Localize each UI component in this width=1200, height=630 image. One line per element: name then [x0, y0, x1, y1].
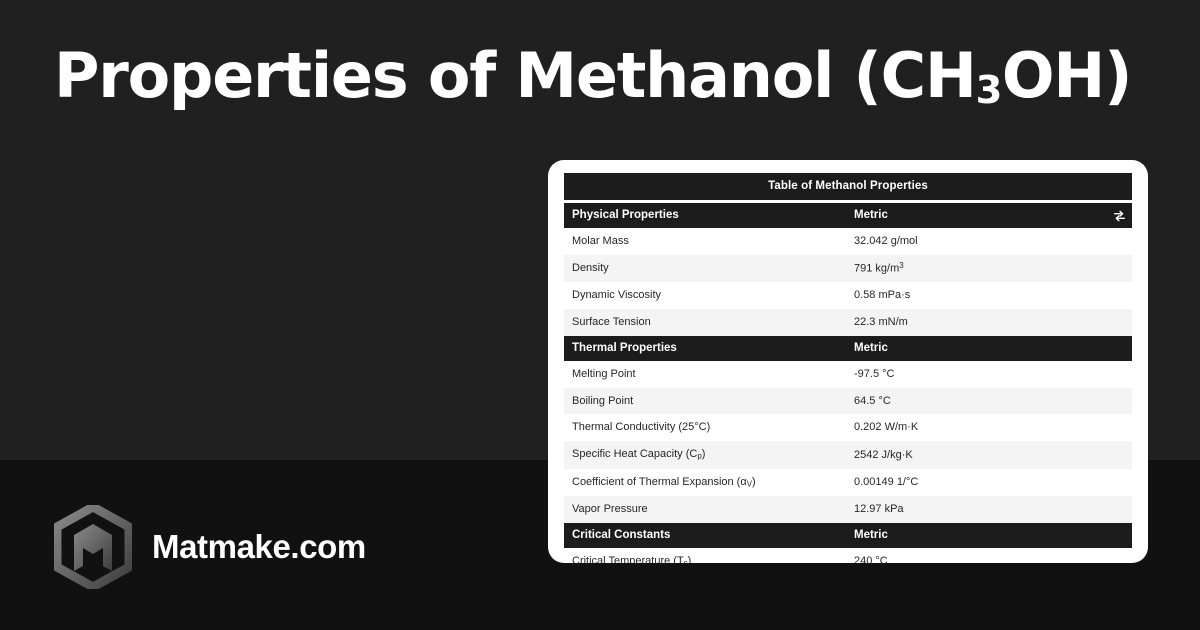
table-row: Surface Tension22.3 mN/m [564, 309, 1132, 336]
section-header-metric: Metric [847, 523, 1132, 548]
page-title-main: Properties of Methanol (CH [54, 39, 976, 112]
property-value: 0.00149 1/°C [847, 469, 1132, 496]
property-label: Density [564, 255, 847, 282]
property-label: Surface Tension [564, 309, 847, 336]
property-label: Melting Point [564, 361, 847, 388]
section-header-property: Critical Constants [564, 523, 847, 548]
table-row: Thermal Conductivity (25°C)0.202 W/m·K [564, 414, 1132, 441]
table-row: Melting Point-97.5 °C [564, 361, 1132, 388]
property-label: Vapor Pressure [564, 496, 847, 523]
property-value: 22.3 mN/m [847, 309, 1132, 336]
page-title-subscript: 3 [976, 68, 1002, 113]
table-caption-row: Table of Methanol Properties [564, 173, 1132, 200]
property-value: 0.202 W/m·K [847, 414, 1132, 441]
section-header-row: Physical PropertiesMetric [564, 203, 1132, 228]
table-row: Specific Heat Capacity (Cp)2542 J/kg·K [564, 441, 1132, 468]
section-header-metric: Metric [847, 336, 1132, 361]
section-header-property: Thermal Properties [564, 336, 847, 361]
table-row: Coefficient of Thermal Expansion (αV)0.0… [564, 469, 1132, 496]
properties-table-card: Table of Methanol PropertiesPhysical Pro… [548, 160, 1148, 563]
property-value: 12.97 kPa [847, 496, 1132, 523]
section-header-metric[interactable]: Metric [847, 203, 1132, 228]
properties-table: Table of Methanol PropertiesPhysical Pro… [564, 173, 1132, 563]
section-header-row: Thermal PropertiesMetric [564, 336, 1132, 361]
brand-footer: Matmake.com [54, 505, 366, 589]
brand-name: Matmake.com [152, 528, 366, 566]
property-label: Specific Heat Capacity (Cp) [564, 441, 847, 468]
property-label: Critical Temperature (Tc) [564, 548, 847, 563]
property-value: 240 °C [847, 548, 1132, 563]
property-label: Dynamic Viscosity [564, 282, 847, 309]
page-title-tail: OH) [1002, 39, 1131, 112]
table-row: Boiling Point64.5 °C [564, 388, 1132, 415]
section-header-row: Critical ConstantsMetric [564, 523, 1132, 548]
table-row: Density791 kg/m3 [564, 255, 1132, 282]
table-row: Vapor Pressure12.97 kPa [564, 496, 1132, 523]
property-value: -97.5 °C [847, 361, 1132, 388]
page-title: Properties of Methanol (CH3OH) [54, 41, 1154, 110]
matmake-cube-logo-icon [54, 505, 132, 589]
property-value: 0.58 mPa·s [847, 282, 1132, 309]
property-label: Coefficient of Thermal Expansion (αV) [564, 469, 847, 496]
property-label: Boiling Point [564, 388, 847, 415]
property-value: 791 kg/m3 [847, 255, 1132, 282]
property-value: 32.042 g/mol [847, 228, 1132, 255]
section-header-property: Physical Properties [564, 203, 847, 228]
property-label: Thermal Conductivity (25°C) [564, 414, 847, 441]
table-caption: Table of Methanol Properties [564, 173, 1132, 200]
table-row: Critical Temperature (Tc)240 °C [564, 548, 1132, 563]
property-value: 64.5 °C [847, 388, 1132, 415]
table-row: Molar Mass32.042 g/mol [564, 228, 1132, 255]
property-label: Molar Mass [564, 228, 847, 255]
page-root: Properties of Methanol (CH3OH) Matmake.c… [0, 0, 1200, 630]
table-row: Dynamic Viscosity0.58 mPa·s [564, 282, 1132, 309]
property-value: 2542 J/kg·K [847, 441, 1132, 468]
